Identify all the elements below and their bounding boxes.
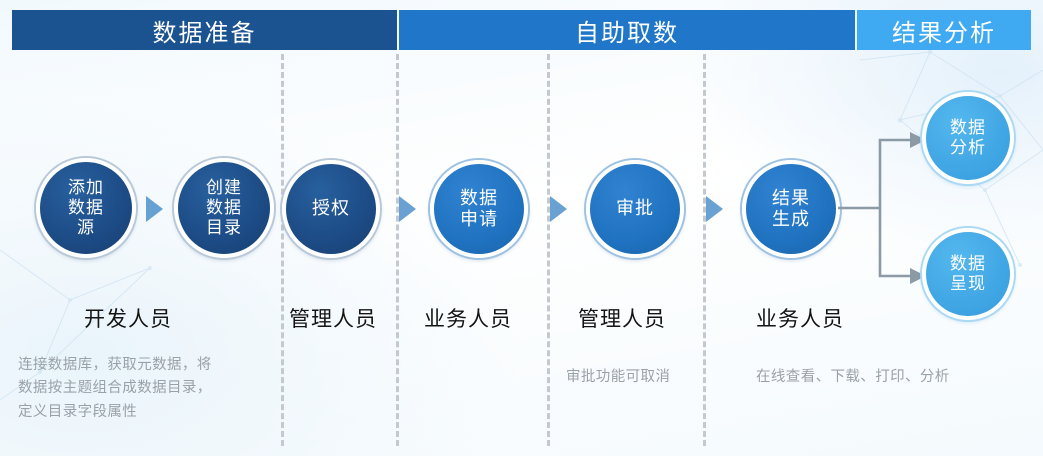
arrow-icon-5 [706, 196, 723, 222]
flow-node-data-request[interactable]: 数据 申请 [430, 160, 528, 258]
flow-node-label: 数据 呈现 [950, 254, 986, 294]
flow-node-data-presentation[interactable]: 数据 呈现 [922, 228, 1014, 320]
role-label-admin-approval: 管理人员 [578, 303, 666, 333]
flow-node-result-generate[interactable]: 结果 生成 [742, 160, 840, 258]
flow-node-label: 添加 数据 源 [68, 178, 104, 238]
flow-node-data-analysis[interactable]: 数据 分析 [922, 92, 1014, 184]
column-divider-3 [547, 54, 550, 446]
flow-node-label: 数据 分析 [950, 118, 986, 158]
note-approval: 审批功能可取消 [566, 366, 706, 389]
role-label-business-request: 业务人员 [424, 303, 512, 333]
role-label-admin-authorize: 管理人员 [289, 303, 377, 333]
phase-band-self-service-fetch[interactable]: 自助取数 [399, 10, 855, 50]
flow-node-add-datasource[interactable]: 添加 数据 源 [36, 158, 136, 258]
flow-node-create-catalog[interactable]: 创建 数据 目录 [174, 158, 274, 258]
phase-band-result-analysis[interactable]: 结果分析 [857, 10, 1031, 50]
note-result-analysis: 在线查看、下载、打印、分析 [756, 366, 1016, 389]
flow-node-label: 数据 申请 [460, 188, 498, 230]
column-divider-2 [396, 54, 399, 446]
diagram-canvas: 数据准备 自助取数 结果分析 添加 数据 源 创建 数据 目录 授权 数据 申请… [0, 0, 1043, 456]
role-label-business-result: 业务人员 [756, 303, 844, 333]
flow-node-label: 结果 生成 [772, 188, 810, 230]
flow-node-label: 授权 [312, 198, 350, 219]
phase-band-data-preparation[interactable]: 数据准备 [12, 10, 397, 50]
flow-node-label: 审批 [616, 198, 654, 219]
arrow-icon-3 [399, 196, 416, 222]
note-data-preparation: 连接数据库，获取元数据，将 数据按主题组合成数据目录， 定义目录字段属性 [18, 354, 276, 424]
flow-node-authorize[interactable]: 授权 [282, 160, 380, 258]
arrow-icon-1 [146, 196, 163, 222]
arrow-icon-4 [550, 196, 567, 222]
flow-node-approval[interactable]: 审批 [586, 160, 684, 258]
column-divider-1 [281, 54, 284, 446]
role-label-developer: 开发人员 [84, 303, 172, 333]
flow-node-label: 创建 数据 目录 [206, 178, 242, 238]
